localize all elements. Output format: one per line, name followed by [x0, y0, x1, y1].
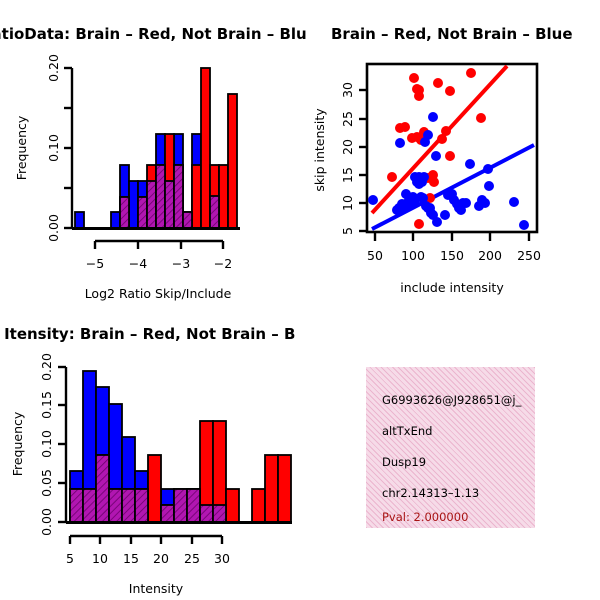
svg-text:25: 25 [340, 111, 355, 127]
svg-text:150: 150 [440, 248, 464, 263]
scatter-xaxis [375, 232, 529, 241]
svg-text:0.00: 0.00 [46, 214, 61, 242]
svg-text:0.20: 0.20 [39, 353, 54, 381]
svg-text:−5: −5 [86, 256, 104, 271]
annotation-pval: Pval: 2.000000 [382, 510, 468, 524]
svg-text:0.10: 0.10 [46, 134, 61, 162]
svg-text:5: 5 [340, 227, 355, 235]
hist-intensity-xticklabels: 5 10 15 20 25 30 [66, 551, 230, 566]
hist-intensity-title: ne Itensity: Brain – Red, Not Brain – B [0, 325, 295, 343]
svg-text:15: 15 [340, 167, 355, 183]
hist-ratio-xaxis [95, 241, 223, 249]
svg-text:−4: −4 [129, 256, 147, 271]
scatter-yticklabels: 30 25 20 15 10 5 [340, 82, 355, 235]
svg-text:15: 15 [123, 551, 139, 566]
scatter-xlabel: include intensity [400, 280, 504, 295]
annotation-box: G6993626@J928651@j_ altTxEnd Dusp19 chr2… [366, 367, 535, 528]
panel-hist-ratio: RatioData: Brain – Red, Not Brain – Blu … [0, 0, 300, 305]
svg-text:50: 50 [367, 248, 383, 263]
svg-text:5: 5 [66, 551, 74, 566]
svg-text:100: 100 [401, 248, 425, 263]
annotation-event-type: altTxEnd [382, 424, 432, 438]
hist-ratio-yaxis [64, 68, 72, 228]
hist-ratio-xlabel: Log2 Ratio Skip/Include [85, 286, 232, 301]
scatter-plot: 30 25 20 15 10 5 skip intensity 50 100 1… [300, 0, 600, 305]
svg-text:0.05: 0.05 [39, 469, 54, 497]
svg-text:250: 250 [517, 248, 541, 263]
hist-intensity-yticklabels: 0.20 0.15 0.10 0.05 0.00 [39, 353, 54, 536]
hist-ratio-ylabel: Frequency [14, 115, 29, 180]
panel-hist-intensity: ne Itensity: Brain – Red, Not Brain – B … [0, 305, 300, 600]
hist-ratio-title: RatioData: Brain – Red, Not Brain – Blu [0, 25, 307, 43]
annotation-gene: Dusp19 [382, 455, 426, 469]
hist-intensity-plot: 0.20 0.15 0.10 0.05 0.00 Frequency [0, 305, 300, 600]
svg-text:10: 10 [340, 195, 355, 211]
scatter-title: Brain – Red, Not Brain – Blue [331, 25, 573, 43]
annotation-event-id: G6993626@J928651@j_ [382, 393, 521, 407]
hist-intensity-xaxis [70, 536, 222, 544]
svg-text:−2: −2 [214, 256, 232, 271]
hist-ratio-plot: 0.20 0.10 0.00 Frequency [0, 0, 300, 305]
hist-intensity-yaxis [58, 367, 66, 522]
svg-text:30: 30 [214, 551, 230, 566]
svg-text:20: 20 [340, 139, 355, 155]
hist-intensity-ylabel: Frequency [10, 411, 25, 476]
annotation-locus: chr2.14313–1.13 [382, 486, 479, 500]
svg-text:200: 200 [478, 248, 502, 263]
hist-ratio-xticklabels: −5 −4 −3 −2 [86, 256, 232, 271]
scatter-ylabel: skip intensity [312, 108, 327, 192]
svg-text:10: 10 [92, 551, 108, 566]
scatter-xticklabels: 50 100 150 200 250 [367, 248, 541, 263]
hist-ratio-yticklabels: 0.20 0.10 0.00 [46, 54, 61, 242]
svg-text:25: 25 [184, 551, 200, 566]
panel-scatter: Brain – Red, Not Brain – Blue [300, 0, 600, 305]
svg-text:0.10: 0.10 [39, 430, 54, 458]
svg-text:0.15: 0.15 [39, 391, 54, 419]
svg-text:0.00: 0.00 [39, 508, 54, 536]
svg-text:0.20: 0.20 [46, 54, 61, 82]
hist-intensity-xlabel: Intensity [129, 581, 184, 596]
svg-text:20: 20 [153, 551, 169, 566]
svg-text:−3: −3 [172, 256, 190, 271]
svg-text:30: 30 [340, 82, 355, 98]
